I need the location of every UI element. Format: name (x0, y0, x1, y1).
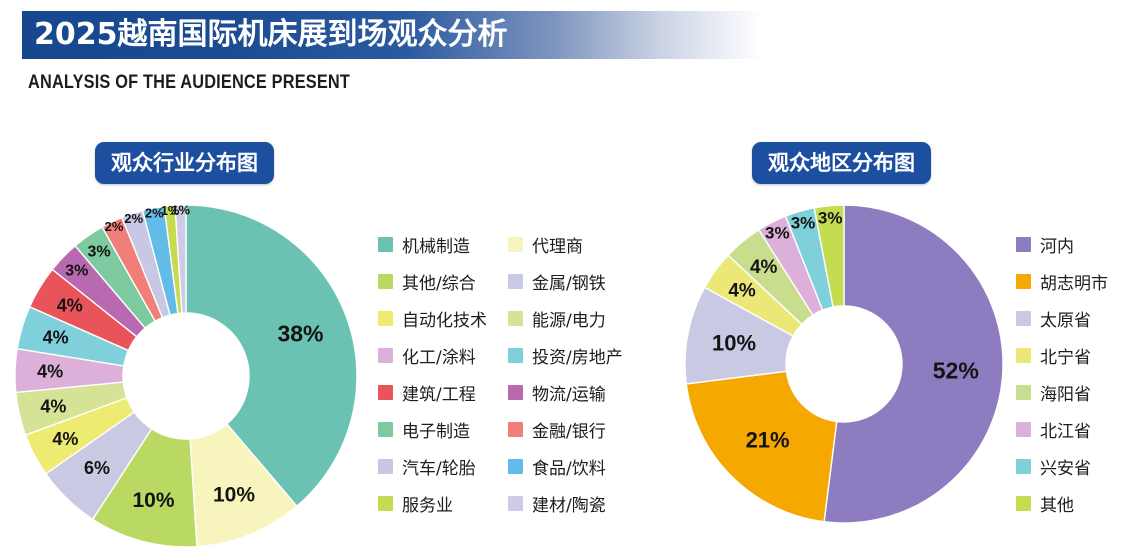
legend-swatch-icon (378, 496, 393, 511)
legend-item[interactable]: 北宁省 (1016, 337, 1108, 374)
legend-item[interactable]: 物流/运输 (508, 374, 623, 411)
legend-item[interactable]: 代理商 (508, 226, 623, 263)
legend-item-label: 物流/运输 (532, 380, 606, 405)
donut-slice-label: 3% (818, 208, 843, 227)
donut-slice-label: 3% (791, 214, 816, 233)
legend-swatch-icon (508, 422, 523, 437)
legend-item-label: 能源/电力 (532, 306, 606, 331)
legend-item[interactable]: 其他/综合 (378, 263, 508, 300)
legend-item[interactable]: 兴安省 (1016, 448, 1108, 485)
legend-item[interactable]: 北江省 (1016, 411, 1108, 448)
chart-title-region: 观众地区分布图 (752, 142, 931, 184)
donut-slice-label: 21% (746, 428, 790, 453)
legend-item-label: 其他/综合 (402, 269, 476, 294)
legend-industry-column-2: 代理商金属/钢铁能源/电力投资/房地产物流/运输金融/银行食品/饮料建材/陶瓷 (508, 226, 623, 522)
legend-swatch-icon (378, 385, 393, 400)
legend-swatch-icon (378, 459, 393, 474)
donut-slice-label: 4% (40, 396, 66, 416)
legend-swatch-icon (1016, 274, 1031, 289)
legend-item[interactable]: 胡志明市 (1016, 263, 1108, 300)
donut-slice-label: 10% (213, 484, 255, 507)
legend-swatch-icon (1016, 422, 1031, 437)
legend-item[interactable]: 金属/钢铁 (508, 263, 623, 300)
donut-slice-label: 4% (728, 280, 756, 301)
legend-item-label: 服务业 (402, 491, 453, 516)
donut-chart-region: 52%21%10%4%4%3%3%3% (684, 204, 1004, 524)
legend-item-label: 胡志明市 (1040, 269, 1108, 294)
legend-item-label: 电子制造 (402, 417, 470, 442)
legend-item-label: 机械制造 (402, 232, 470, 257)
legend-swatch-icon (508, 237, 523, 252)
legend-item-label: 代理商 (532, 232, 583, 257)
legend-industry-column-1: 机械制造其他/综合自动化技术化工/涂料建筑/工程电子制造汽车/轮胎服务业 (378, 226, 508, 522)
legend-swatch-icon (378, 422, 393, 437)
donut-slice-label: 2% (105, 219, 124, 234)
legend-swatch-icon (508, 348, 523, 363)
legend-item-label: 兴安省 (1040, 454, 1091, 479)
legend-item-label: 建材/陶瓷 (532, 491, 606, 516)
legend-swatch-icon (378, 274, 393, 289)
legend-item-label: 化工/涂料 (402, 343, 476, 368)
donut-slice-label: 4% (52, 429, 78, 449)
donut-slice-label: 38% (277, 321, 323, 347)
legend-swatch-icon (1016, 496, 1031, 511)
page-subtitle: ANALYSIS OF THE AUDIENCE PRESENT (28, 72, 350, 94)
legend-item[interactable]: 服务业 (378, 485, 508, 522)
legend-swatch-icon (1016, 385, 1031, 400)
legend-item[interactable]: 建材/陶瓷 (508, 485, 623, 522)
legend-swatch-icon (508, 274, 523, 289)
legend-swatch-icon (1016, 459, 1031, 474)
legend-item-label: 太原省 (1040, 306, 1091, 331)
chart-title-industry: 观众行业分布图 (95, 142, 274, 184)
legend-item-label: 投资/房地产 (532, 343, 623, 368)
donut-chart-region-svg: 52%21%10%4%4%3%3%3% (684, 204, 1004, 524)
donut-slice-label: 52% (933, 358, 979, 384)
legend-item[interactable]: 化工/涂料 (378, 337, 508, 374)
donut-slice-label: 4% (57, 296, 83, 316)
legend-item-label: 金融/银行 (532, 417, 606, 442)
legend-item[interactable]: 其他 (1016, 485, 1108, 522)
legend-item[interactable]: 食品/饮料 (508, 448, 623, 485)
legend-swatch-icon (508, 496, 523, 511)
legend-item[interactable]: 建筑/工程 (378, 374, 508, 411)
donut-slice-label: 4% (43, 327, 69, 347)
legend-item-label: 北宁省 (1040, 343, 1091, 368)
legend-swatch-icon (378, 311, 393, 326)
legend-item[interactable]: 能源/电力 (508, 300, 623, 337)
legend-item[interactable]: 河内 (1016, 226, 1108, 263)
legend-item[interactable]: 海阳省 (1016, 374, 1108, 411)
legend-item-label: 建筑/工程 (402, 380, 476, 405)
donut-slice-label: 10% (712, 330, 756, 355)
donut-slice-label: 3% (87, 244, 110, 261)
donut-slice-label: 3% (765, 224, 790, 243)
legend-item-label: 北江省 (1040, 417, 1091, 442)
donut-chart-industry-svg: 38%10%10%6%4%4%4%4%4%3%3%2%2%2%1%1% (14, 204, 358, 548)
legend-swatch-icon (1016, 237, 1031, 252)
donut-chart-industry: 38%10%10%6%4%4%4%4%4%3%3%2%2%2%1%1% (14, 204, 358, 548)
legend-swatch-icon (508, 459, 523, 474)
legend-item[interactable]: 投资/房地产 (508, 337, 623, 374)
legend-swatch-icon (508, 311, 523, 326)
legend-item-label: 自动化技术 (402, 306, 487, 331)
legend-item-label: 食品/饮料 (532, 454, 606, 479)
legend-item-label: 海阳省 (1040, 380, 1091, 405)
legend-item[interactable]: 太原省 (1016, 300, 1108, 337)
legend-item[interactable]: 自动化技术 (378, 300, 508, 337)
donut-slice-label: 10% (132, 489, 174, 512)
legend-region-column-1: 河内胡志明市太原省北宁省海阳省北江省兴安省其他 (1016, 226, 1108, 522)
legend-swatch-icon (378, 237, 393, 252)
legend-industry: 机械制造其他/综合自动化技术化工/涂料建筑/工程电子制造汽车/轮胎服务业 代理商… (378, 226, 623, 522)
donut-slice-label: 4% (37, 362, 63, 382)
donut-slice-label: 2% (124, 211, 143, 226)
donut-slice-label: 1% (171, 202, 190, 217)
legend-item[interactable]: 机械制造 (378, 226, 508, 263)
legend-swatch-icon (378, 348, 393, 363)
donut-slice-label: 6% (84, 458, 110, 478)
legend-item-label: 金属/钢铁 (532, 269, 606, 294)
donut-slice-label: 3% (65, 263, 88, 280)
legend-swatch-icon (508, 385, 523, 400)
page-title: 2025越南国际机床展到场观众分析 (34, 15, 508, 55)
legend-item[interactable]: 金融/银行 (508, 411, 623, 448)
donut-slice-label: 4% (750, 257, 778, 278)
legend-item[interactable]: 电子制造 (378, 411, 508, 448)
legend-item-label: 其他 (1040, 491, 1074, 516)
legend-swatch-icon (1016, 311, 1031, 326)
legend-item-label: 汽车/轮胎 (402, 454, 476, 479)
legend-item-label: 河内 (1040, 232, 1074, 257)
legend-swatch-icon (1016, 348, 1031, 363)
legend-item[interactable]: 汽车/轮胎 (378, 448, 508, 485)
legend-region: 河内胡志明市太原省北宁省海阳省北江省兴安省其他 (1016, 226, 1108, 522)
